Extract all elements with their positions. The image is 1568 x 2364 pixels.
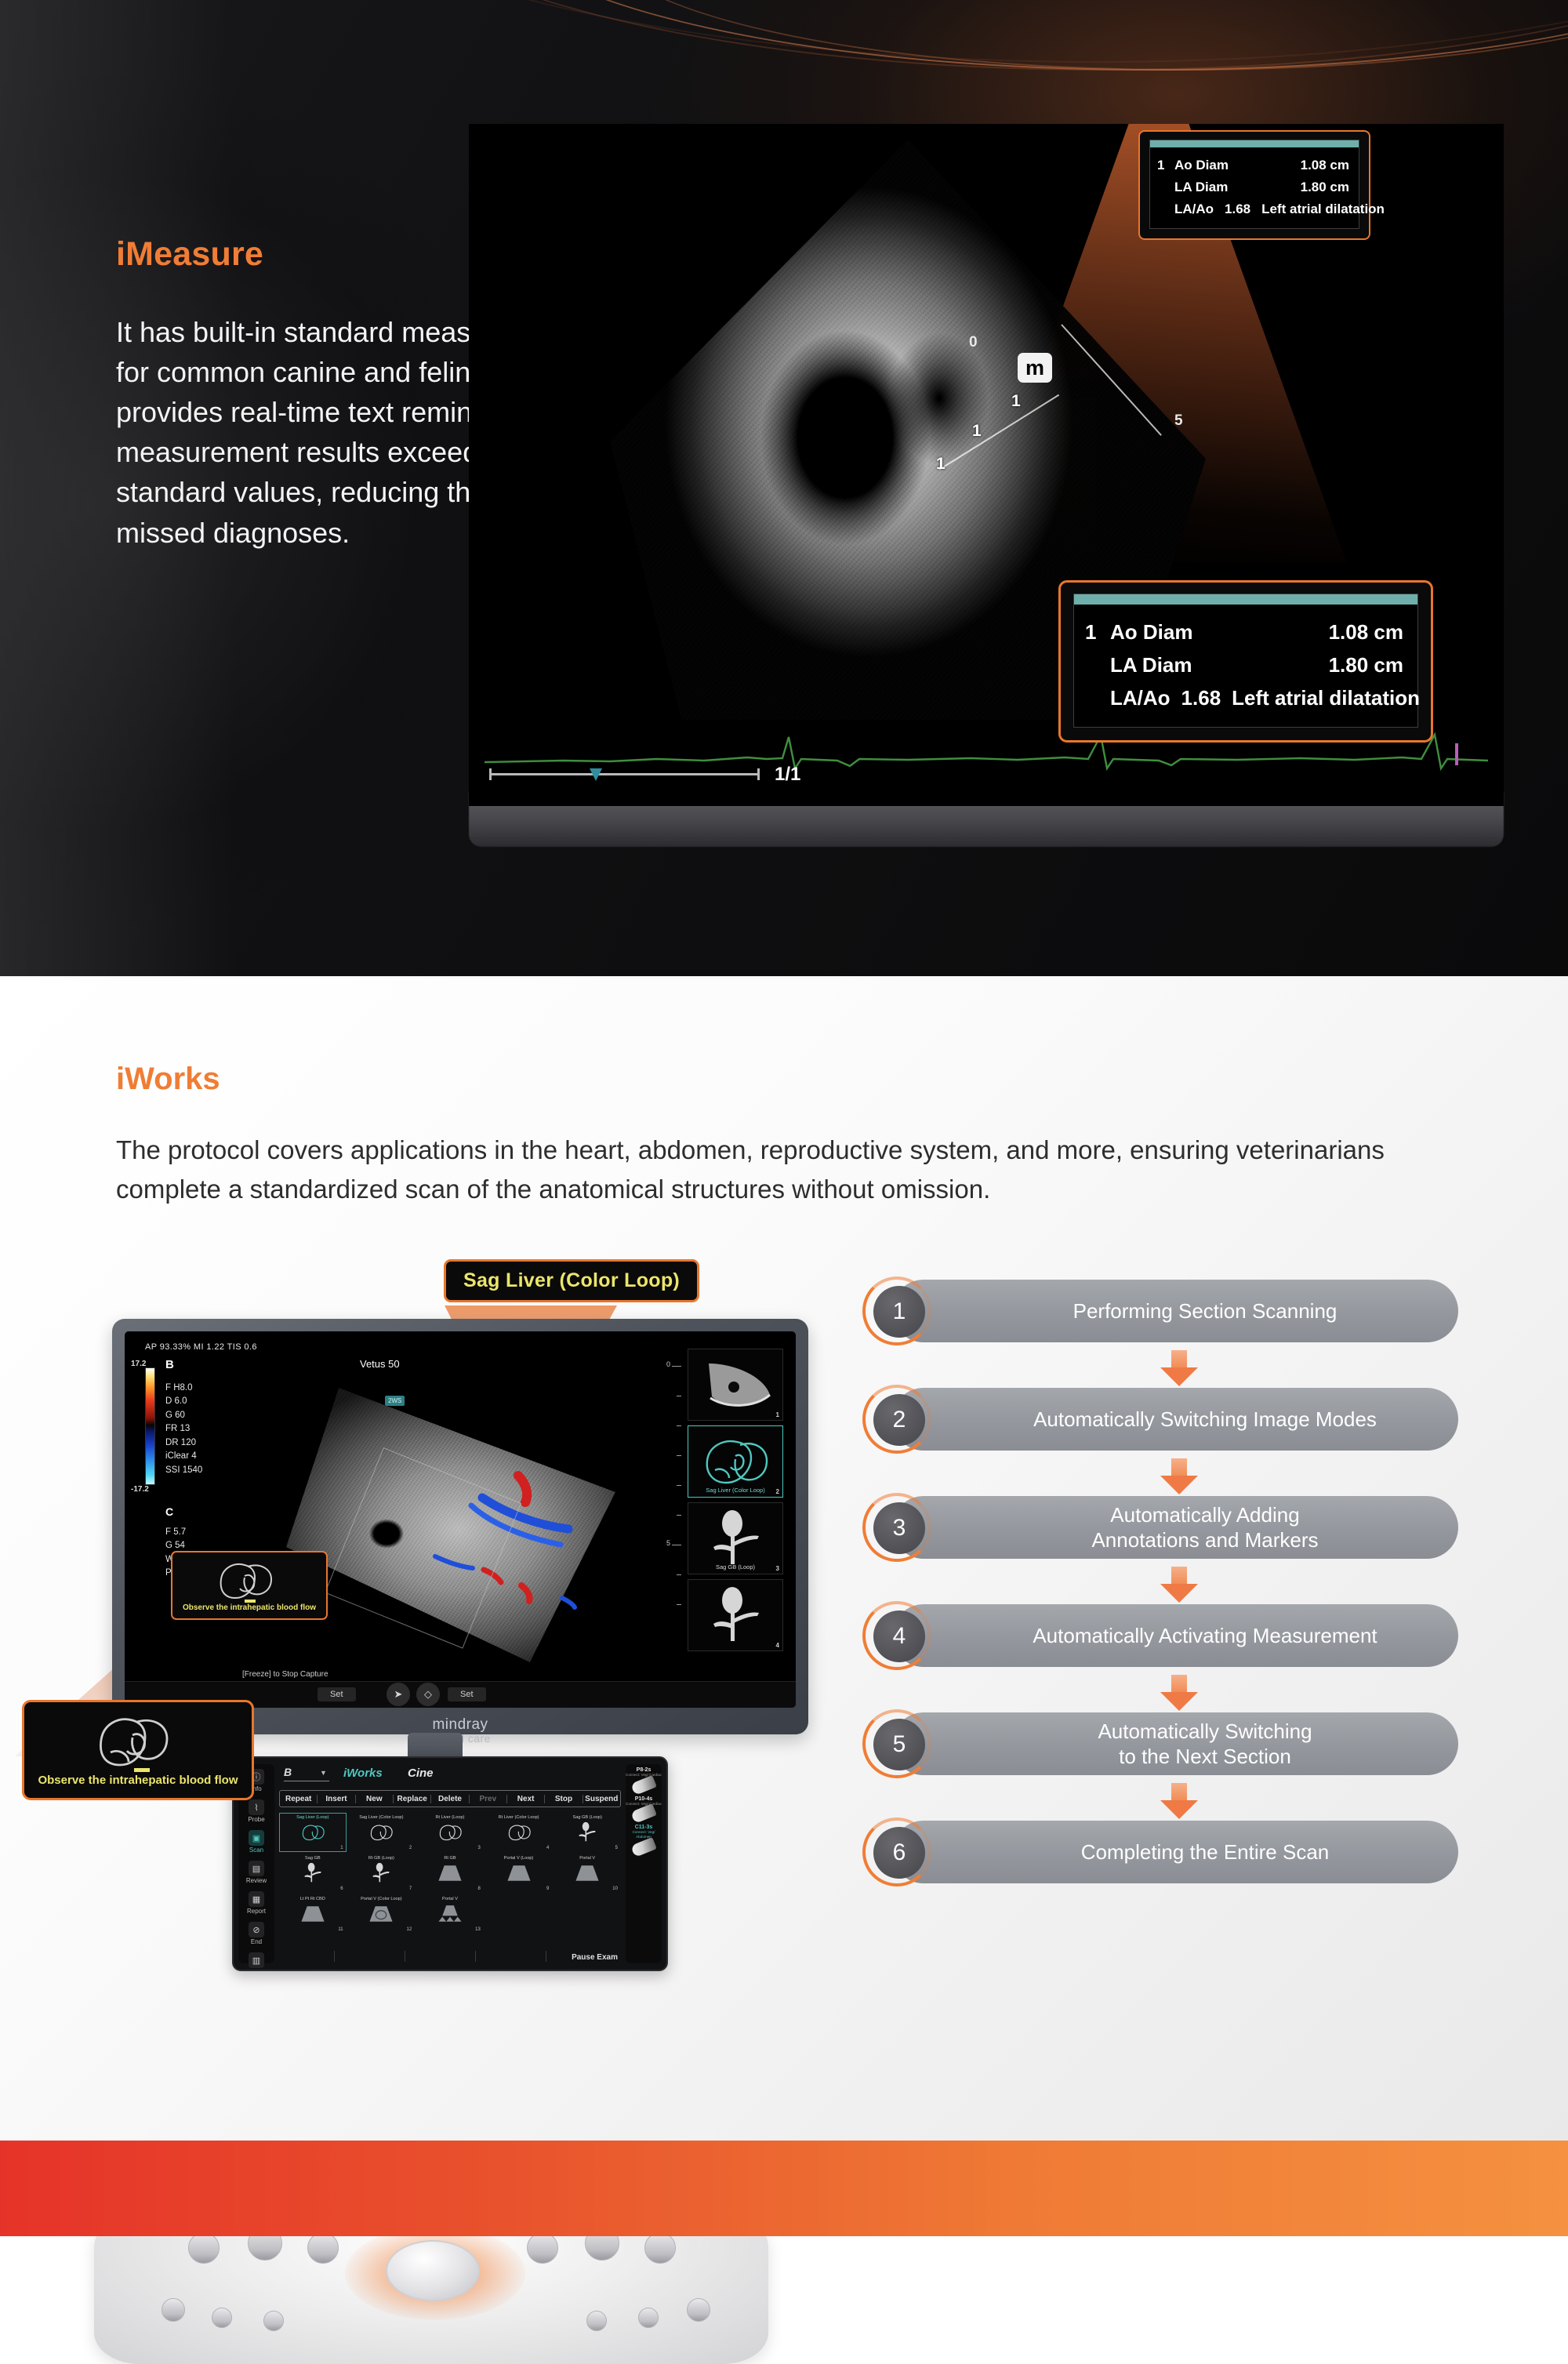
measurement-result-box-small: 1 Ao Diam 1.08 cm LA Diam 1.80 cm LA/Ao … bbox=[1138, 130, 1370, 240]
scan-icon: ▣ bbox=[249, 1830, 264, 1846]
console-button[interactable] bbox=[687, 2298, 710, 2322]
review-icon: ▤ bbox=[249, 1861, 264, 1876]
toolbar-button-insert[interactable]: Insert bbox=[318, 1795, 355, 1803]
protocol-label: Rt GB (Loop) bbox=[349, 1856, 415, 1861]
cursor-arrow-icon[interactable]: ➤ bbox=[387, 1683, 410, 1706]
toolbar-button-next[interactable]: Next bbox=[507, 1795, 545, 1803]
touchpanel-toolbar: Repeat Insert New Replace Delete Prev Ne… bbox=[279, 1790, 621, 1807]
protocol-item[interactable]: Rt Liver (Loop) 3 bbox=[416, 1813, 484, 1852]
b-param: DR 120 bbox=[165, 1436, 202, 1450]
protocol-label: Portal V (Loop) bbox=[486, 1856, 552, 1861]
thumbnail-number: 4 bbox=[776, 1642, 779, 1649]
monitor-thumbnail[interactable]: Sag GB (Loop) 3 bbox=[688, 1502, 783, 1574]
protocol-number: 11 bbox=[338, 1927, 343, 1932]
sidebar-label: Probe bbox=[238, 1816, 274, 1823]
probe-option[interactable]: P8-2s Connect: Veg/ Cardiac bbox=[626, 1767, 662, 1792]
measurement-rows-small: 1 Ao Diam 1.08 cm LA Diam 1.80 cm LA/Ao … bbox=[1150, 147, 1359, 228]
callout-small-text: Observe the intrahepatic blood flow bbox=[172, 1603, 326, 1612]
measurement-value: 1.80 cm bbox=[1329, 648, 1403, 681]
liver-outline-icon bbox=[172, 1556, 328, 1607]
flow-step-5[interactable]: Automatically Switching to the Next Sect… bbox=[862, 1709, 1458, 1778]
monitor-display: AP 93.33% MI 1.22 TIS 0.6 B Vetus 50 17.… bbox=[125, 1331, 796, 1708]
monitor-device-name: Vetus 50 bbox=[360, 1358, 400, 1370]
console-button[interactable] bbox=[263, 2311, 284, 2331]
probe-option[interactable]: P10-4s Connect: Veg/ Cardiac bbox=[626, 1796, 662, 1821]
console-knob[interactable] bbox=[307, 2232, 339, 2264]
measurement-row: LA Diam 1.80 cm bbox=[1157, 176, 1349, 198]
measurement-note: Left atrial dilatation bbox=[1232, 681, 1420, 714]
thumbnail-number: 2 bbox=[776, 1488, 779, 1495]
measurement-note: Left atrial dilatation bbox=[1261, 198, 1385, 220]
protocol-number: 12 bbox=[407, 1927, 412, 1932]
probe-icon bbox=[630, 1803, 657, 1824]
protocol-label: Portal V bbox=[417, 1897, 483, 1901]
b-param: FR 13 bbox=[165, 1422, 202, 1436]
sidebar-item-scan[interactable]: ▣ Scan bbox=[238, 1830, 274, 1854]
thumbnail-number: 3 bbox=[776, 1565, 779, 1572]
fan-scan-icon bbox=[574, 1863, 601, 1883]
protocol-number: 8 bbox=[477, 1886, 480, 1891]
protocol-label: Rt GB bbox=[417, 1856, 483, 1861]
thumbnail-label: Sag Liver (Color Loop) bbox=[688, 1487, 782, 1494]
sidebar-item-end[interactable]: ⊘ End bbox=[238, 1922, 274, 1945]
monitor-thumbnail-active[interactable]: Sag Liver (Color Loop) 2 bbox=[688, 1425, 783, 1498]
sidebar-item-istation[interactable]: ▥ iStation bbox=[238, 1952, 274, 1971]
caliper-label-2: 1 bbox=[972, 422, 982, 441]
tab-iworks[interactable]: iWorks bbox=[343, 1767, 383, 1780]
console-knob[interactable] bbox=[188, 2232, 220, 2264]
measurement-value: 1.08 cm bbox=[1301, 154, 1349, 176]
measurement-value: 1.08 cm bbox=[1329, 616, 1403, 648]
probe-option-active[interactable]: C11-3s Connect: Veg/ Abdomen bbox=[626, 1825, 662, 1853]
step-number: 1 bbox=[873, 1286, 925, 1338]
protocol-number: 3 bbox=[477, 1846, 480, 1850]
gallbladder-diagram-icon bbox=[688, 1580, 783, 1651]
protocol-label: Lt Pt Rt CBD bbox=[280, 1897, 346, 1901]
flow-arrow bbox=[862, 1670, 1458, 1709]
ecg-frame-counter: 1/1 bbox=[775, 764, 800, 786]
colorbar-bottom-value: -17.2 bbox=[131, 1485, 149, 1494]
console-knob[interactable] bbox=[644, 2232, 676, 2264]
measurement-row: LA Diam 1.80 cm bbox=[1085, 648, 1403, 681]
measurement-result-box-large: 1 Ao Diam 1.08 cm LA Diam 1.80 cm LA/Ao … bbox=[1058, 580, 1433, 743]
touchpanel-footer-dividers bbox=[287, 1951, 519, 1962]
measurement-label: LA/Ao bbox=[1174, 198, 1214, 220]
console-knob[interactable] bbox=[527, 2232, 558, 2264]
b-param: D 6.0 bbox=[165, 1395, 202, 1408]
sidebar-label: Report bbox=[238, 1908, 274, 1915]
protocol-number: 7 bbox=[409, 1886, 412, 1891]
console-trackball[interactable] bbox=[386, 2240, 480, 2301]
depth-ruler: 0 5 bbox=[664, 1363, 681, 1621]
probe-icon bbox=[630, 1775, 657, 1796]
ecg-position-marker bbox=[590, 768, 602, 781]
pause-exam-button[interactable]: Pause Exam bbox=[572, 1953, 618, 1962]
liver-icon bbox=[299, 1822, 326, 1843]
caliper-label-1: 1 bbox=[936, 455, 946, 474]
console-button[interactable] bbox=[638, 2308, 659, 2328]
gallbladder-icon bbox=[371, 1861, 391, 1885]
measurement-label: LA Diam bbox=[1110, 648, 1192, 681]
ecg-event-marker bbox=[1455, 743, 1458, 765]
protocol-item[interactable]: Sag Liver (Color Loop) 2 bbox=[348, 1813, 416, 1852]
protocol-label: Rt Liver (Loop) bbox=[417, 1815, 483, 1820]
thumbnail-number: 1 bbox=[776, 1411, 779, 1418]
istation-icon: ▥ bbox=[249, 1952, 264, 1968]
protocol-label: Portal V bbox=[554, 1856, 620, 1861]
b-param: F H8.0 bbox=[165, 1382, 202, 1395]
protocol-label: Sag GB bbox=[280, 1856, 346, 1861]
sidebar-label: End bbox=[238, 1938, 274, 1945]
probe-selector-panel: P8-2s Connect: Veg/ Cardiac P10-4s Conne… bbox=[626, 1764, 662, 1963]
flow-arrow bbox=[862, 1562, 1458, 1601]
protocol-number: 6 bbox=[340, 1886, 343, 1891]
touchpanel-main: B ▼ iWorks Cine Repeat Insert New Replac… bbox=[279, 1764, 621, 1963]
step-label: Completing the Entire Scan bbox=[1081, 1839, 1330, 1865]
toolbar-button-repeat[interactable]: Repeat bbox=[280, 1795, 318, 1803]
measurement-row: LA/Ao 1.68 Left atrial dilatation bbox=[1085, 681, 1403, 714]
protocol-item[interactable]: Portal V 10 bbox=[554, 1854, 621, 1893]
protocol-number: 5 bbox=[615, 1846, 618, 1850]
step-pill[interactable]: Completing the Entire Scan bbox=[892, 1821, 1458, 1883]
step-number: 5 bbox=[873, 1719, 925, 1770]
sidebar-item-probe[interactable]: ⌇ Probe bbox=[238, 1799, 274, 1823]
step-number: 6 bbox=[873, 1827, 925, 1879]
toolbar-button-stop[interactable]: Stop bbox=[545, 1795, 583, 1803]
liver-icon bbox=[506, 1822, 532, 1843]
ultrasound-thumb-icon bbox=[688, 1349, 783, 1421]
report-icon: ▦ bbox=[249, 1891, 264, 1907]
callout-observe-large: Observe the intrahepatic blood flow bbox=[22, 1700, 254, 1800]
probe-sub: Connect: Veg/ Abdomen bbox=[626, 1830, 662, 1839]
measurement-row: LA/Ao 1.68 Left atrial dilatation bbox=[1157, 198, 1349, 220]
measurement-header-bar-large bbox=[1074, 594, 1417, 605]
probe-icon bbox=[630, 1837, 657, 1857]
brand-name: mindray bbox=[432, 1716, 488, 1733]
console-button[interactable] bbox=[212, 2308, 232, 2328]
flow-step-6[interactable]: Completing the Entire Scan 6 bbox=[862, 1817, 1458, 1886]
console-button[interactable] bbox=[162, 2298, 185, 2322]
step-label: Performing Section Scanning bbox=[1073, 1298, 1338, 1324]
protocol-label: Sag Liver (Loop) bbox=[280, 1815, 346, 1820]
monitor-thumbnail[interactable]: 4 bbox=[688, 1579, 783, 1651]
b-param: SSI 1540 bbox=[165, 1464, 202, 1477]
gallbladder-icon bbox=[577, 1821, 597, 1844]
protocol-label: Sag GB (Loop) bbox=[554, 1815, 620, 1820]
touch-control-panel: ⓘ Info ⌇ Probe ▣ Scan ▤ Review ▦ Report … bbox=[232, 1756, 668, 1971]
flow-step-4[interactable]: Automatically Activating Measurement 4 bbox=[862, 1601, 1458, 1670]
footer-accent-bar bbox=[0, 2141, 1568, 2236]
protocol-number: 1 bbox=[340, 1846, 343, 1850]
protocol-item[interactable]: Sag Liver (Loop) 1 bbox=[279, 1813, 347, 1852]
set-button-left[interactable]: Set bbox=[318, 1687, 356, 1701]
measurement-label: Ao Diam bbox=[1174, 154, 1229, 176]
measurement-label: Ao Diam bbox=[1110, 616, 1192, 648]
step-label: Automatically Adding Annotations and Mar… bbox=[1091, 1502, 1318, 1553]
step-pill[interactable]: Automatically Activating Measurement bbox=[892, 1604, 1458, 1667]
console-button[interactable] bbox=[586, 2311, 607, 2331]
tab-cine[interactable]: Cine bbox=[408, 1767, 434, 1780]
b-param: iClear 4 bbox=[165, 1450, 202, 1463]
measurement-rows-large: 1 Ao Diam 1.08 cm LA Diam 1.80 cm LA/Ao … bbox=[1074, 605, 1417, 727]
thumbnail-label: Sag GB (Loop) bbox=[688, 1563, 782, 1571]
monitor-thumbnail-list: 1 Sag Liver (Color Loop) 2 bbox=[688, 1349, 783, 1656]
measurement-index: 1 bbox=[1157, 154, 1174, 176]
measurement-label: LA Diam bbox=[1174, 176, 1228, 198]
protocol-item[interactable]: Rt GB (Loop) 7 bbox=[348, 1854, 416, 1893]
measurement-inner-large: 1 Ao Diam 1.08 cm LA Diam 1.80 cm LA/Ao … bbox=[1073, 594, 1418, 728]
protocol-item[interactable]: Portal V 13 bbox=[416, 1894, 484, 1934]
protocol-item[interactable]: Rt GB 8 bbox=[416, 1854, 484, 1893]
liver-icon bbox=[368, 1822, 394, 1843]
measurement-label: LA/Ao bbox=[1110, 681, 1171, 714]
measurement-index: 1 bbox=[1085, 616, 1110, 648]
flow-arrow bbox=[862, 1345, 1458, 1385]
flow-arrow bbox=[862, 1778, 1458, 1817]
flow-step-3[interactable]: Automatically Adding Annotations and Mar… bbox=[862, 1493, 1458, 1562]
callout-observe-small: Observe the intrahepatic blood flow bbox=[171, 1551, 328, 1620]
sidebar-item-report[interactable]: ▦ Report bbox=[238, 1891, 274, 1915]
toolbar-button-delete[interactable]: Delete bbox=[431, 1795, 469, 1803]
c-param: F 5.7 bbox=[165, 1526, 211, 1539]
callout-large-text: Observe the intrahepatic blood flow bbox=[24, 1774, 252, 1787]
monitor-bezel: AP 93.33% MI 1.22 TIS 0.6 B Vetus 50 17.… bbox=[112, 1319, 808, 1734]
liver-outline-icon bbox=[24, 1707, 254, 1779]
protocol-item[interactable]: Lt Pt Rt CBD 11 bbox=[279, 1894, 347, 1934]
flow-arrow bbox=[862, 1454, 1458, 1493]
monitor-thumbnail[interactable]: 1 bbox=[688, 1349, 783, 1421]
sidebar-label: Review bbox=[238, 1877, 274, 1884]
iworks-heading: iWorks bbox=[116, 1062, 220, 1097]
protocol-label: Portal V (Color Loop) bbox=[349, 1897, 415, 1901]
step-label: Automatically Activating Measurement bbox=[1033, 1623, 1377, 1649]
protocol-item[interactable]: Sag GB (Loop) 5 bbox=[554, 1813, 621, 1852]
ecg-timeline-bar bbox=[489, 773, 760, 775]
monitor-b-params: F H8.0 D 6.0 G 60 FR 13 DR 120 iClear 4 … bbox=[165, 1382, 202, 1477]
step-pill[interactable]: Automatically Switching to the Next Sect… bbox=[892, 1712, 1458, 1775]
set-button-right[interactable]: Set bbox=[448, 1687, 486, 1701]
toolbar-button-new[interactable]: New bbox=[356, 1795, 394, 1803]
protocol-number: 13 bbox=[475, 1927, 481, 1932]
liver-icon bbox=[437, 1822, 463, 1843]
caliper-label-3: 1 bbox=[1011, 392, 1021, 411]
control-console bbox=[94, 2215, 768, 2364]
toolbar-button-suspend[interactable]: Suspend bbox=[583, 1795, 620, 1803]
probe-sub: Connect: Veg/ Cardiac bbox=[626, 1802, 662, 1807]
protocol-label: Rt Liver (Color Loop) bbox=[486, 1815, 552, 1820]
toolbar-button-replace[interactable]: Replace bbox=[394, 1795, 431, 1803]
probe-sub: Connect: Veg/ Cardiac bbox=[626, 1773, 662, 1778]
imeasure-heading: iMeasure bbox=[116, 235, 263, 274]
monitor-top-info: AP 93.33% MI 1.22 TIS 0.6 bbox=[145, 1342, 257, 1352]
protocol-number: 2 bbox=[409, 1846, 412, 1850]
monitor-freeze-hint: [Freeze] to Stop Capture bbox=[242, 1670, 328, 1679]
measurement-value: 1.68 bbox=[1181, 681, 1221, 714]
depth-tick-label: 0 bbox=[666, 1360, 670, 1368]
depth-tick-label: 5 bbox=[666, 1539, 670, 1547]
toolbar-button-prev[interactable]: Prev bbox=[470, 1795, 507, 1803]
doppler-colorbar bbox=[145, 1367, 155, 1485]
protocol-item[interactable]: Portal V (Color Loop) 12 bbox=[348, 1894, 416, 1934]
trackball-icon[interactable]: ◇ bbox=[416, 1683, 440, 1706]
iworks-step-flow: Performing Section Scanning 1 Automatica… bbox=[862, 1276, 1458, 1886]
fan-scan-icon bbox=[506, 1863, 532, 1883]
probe-name: P8-2s bbox=[626, 1767, 662, 1773]
touchpanel-mode-bar: B ▼ iWorks Cine bbox=[279, 1764, 621, 1788]
colorbar-top-value: 17.2 bbox=[131, 1360, 146, 1368]
fan-scan-icon bbox=[368, 1904, 394, 1924]
depth-label-five: 5 bbox=[1174, 412, 1183, 430]
flow-step-1[interactable]: Performing Section Scanning 1 bbox=[862, 1276, 1458, 1345]
step-pill[interactable]: Automatically Adding Annotations and Mar… bbox=[892, 1496, 1458, 1559]
gallbladder-icon bbox=[303, 1861, 323, 1885]
protocol-item[interactable]: Sag GB 6 bbox=[279, 1854, 347, 1893]
step-number: 4 bbox=[873, 1610, 925, 1662]
flow-step-2[interactable]: Automatically Switching Image Modes 2 bbox=[862, 1385, 1458, 1454]
measurement-row: 1 Ao Diam 1.08 cm bbox=[1157, 154, 1349, 176]
callout-sag-liver: Sag Liver (Color Loop) bbox=[444, 1259, 699, 1302]
sidebar-label: iStation bbox=[238, 1969, 274, 1971]
protocol-number: 9 bbox=[546, 1886, 549, 1891]
step-label: Automatically Switching Image Modes bbox=[1033, 1407, 1377, 1433]
protocol-thumbnail-grid: Sag Liver (Loop) 1 Sag Liver (Color Loop… bbox=[279, 1813, 621, 1945]
measurement-inner-small: 1 Ao Diam 1.08 cm LA Diam 1.80 cm LA/Ao … bbox=[1149, 140, 1359, 229]
m-marker-icon: m bbox=[1018, 353, 1052, 383]
step-label: Automatically Switching to the Next Sect… bbox=[1098, 1719, 1312, 1770]
fan-scan-icon bbox=[437, 1863, 463, 1883]
probe-name: P10-4s bbox=[626, 1796, 662, 1802]
measurement-value: 1.68 bbox=[1225, 198, 1250, 220]
monitor-c-header: C bbox=[165, 1505, 173, 1518]
protocol-number: 10 bbox=[612, 1886, 618, 1891]
end-icon: ⊘ bbox=[249, 1922, 264, 1937]
step-number: 3 bbox=[873, 1502, 925, 1554]
b-param: G 60 bbox=[165, 1409, 202, 1422]
probe-name: C11-3s bbox=[626, 1825, 662, 1830]
probe-icon: ⌇ bbox=[249, 1799, 264, 1815]
protocol-item[interactable]: Portal V (Loop) 9 bbox=[485, 1854, 553, 1893]
chevron-down-icon[interactable]: ▼ bbox=[320, 1769, 327, 1777]
protocol-number: 4 bbox=[546, 1846, 549, 1850]
measurement-row: 1 Ao Diam 1.08 cm bbox=[1085, 616, 1403, 648]
monitor-mode-label: B bbox=[165, 1358, 174, 1371]
protocol-label: Sag Liver (Color Loop) bbox=[349, 1815, 415, 1820]
step-pill[interactable]: Performing Section Scanning bbox=[892, 1280, 1458, 1342]
depth-label-zero: 0 bbox=[969, 334, 978, 351]
sidebar-label: Scan bbox=[238, 1847, 274, 1854]
protocol-item[interactable]: Rt Liver (Color Loop) 4 bbox=[485, 1813, 553, 1852]
iworks-paragraph: The protocol covers applications in the … bbox=[116, 1131, 1449, 1208]
measurement-value: 1.80 cm bbox=[1301, 176, 1349, 198]
fan-scan-icon bbox=[437, 1904, 463, 1924]
sidebar-item-review[interactable]: ▤ Review bbox=[238, 1861, 274, 1884]
measurement-header-bar-small bbox=[1150, 140, 1359, 147]
step-number: 2 bbox=[873, 1394, 925, 1446]
fan-scan-icon bbox=[299, 1904, 326, 1924]
step-pill[interactable]: Automatically Switching Image Modes bbox=[892, 1388, 1458, 1451]
